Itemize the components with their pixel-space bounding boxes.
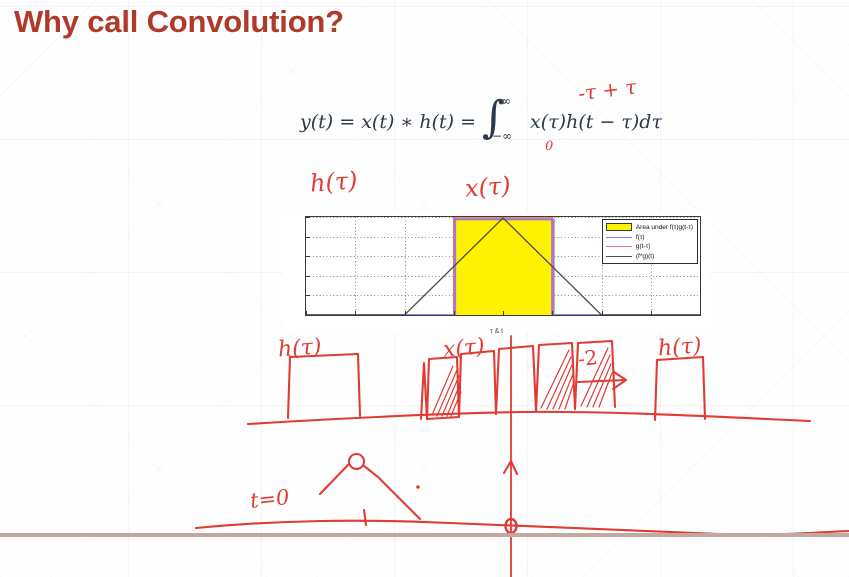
equation-lhs: y(t) = x(t) ∗ h(t) = <box>300 111 476 133</box>
integral-group: ∫ ∞ −∞ <box>480 100 526 144</box>
legend-item: (f*g)(t) <box>606 253 693 260</box>
x-axis-label: τ & t <box>490 328 503 335</box>
legend-label: (f*g)(t) <box>636 253 654 260</box>
integral-lower-limit: −∞ <box>492 129 512 143</box>
convolution-equation: y(t) = x(t) ∗ h(t) = ∫ ∞ −∞ x(τ)h(t − τ)… <box>300 100 720 150</box>
plot-area: Area under f(τ)g(t-τ) f(τ) g(t-τ) (f*g)(… <box>305 216 701 316</box>
legend-label: g(t-τ) <box>636 243 650 250</box>
integral-upper-limit: ∞ <box>501 94 511 108</box>
legend-line-icon <box>606 246 632 247</box>
page-title: Why call Convolution? <box>14 4 344 40</box>
legend-item: f(τ) <box>606 234 693 241</box>
plot-legend: Area under f(τ)g(t-τ) f(τ) g(t-τ) (f*g)(… <box>602 219 698 264</box>
convolution-plot-figure: Area under f(τ)g(t-τ) f(τ) g(t-τ) (f*g)(… <box>283 212 710 332</box>
equation-integrand: x(τ)h(t − τ)dτ <box>530 111 662 133</box>
legend-label: Area under f(τ)g(t-τ) <box>636 224 693 231</box>
legend-item: g(t-τ) <box>606 243 693 250</box>
legend-label: f(τ) <box>636 234 645 241</box>
legend-patch-icon <box>606 223 632 231</box>
legend-item: Area under f(τ)g(t-τ) <box>606 223 693 231</box>
legend-line-icon <box>606 237 632 238</box>
legend-line-icon <box>606 256 632 257</box>
bottom-divider <box>0 533 849 537</box>
